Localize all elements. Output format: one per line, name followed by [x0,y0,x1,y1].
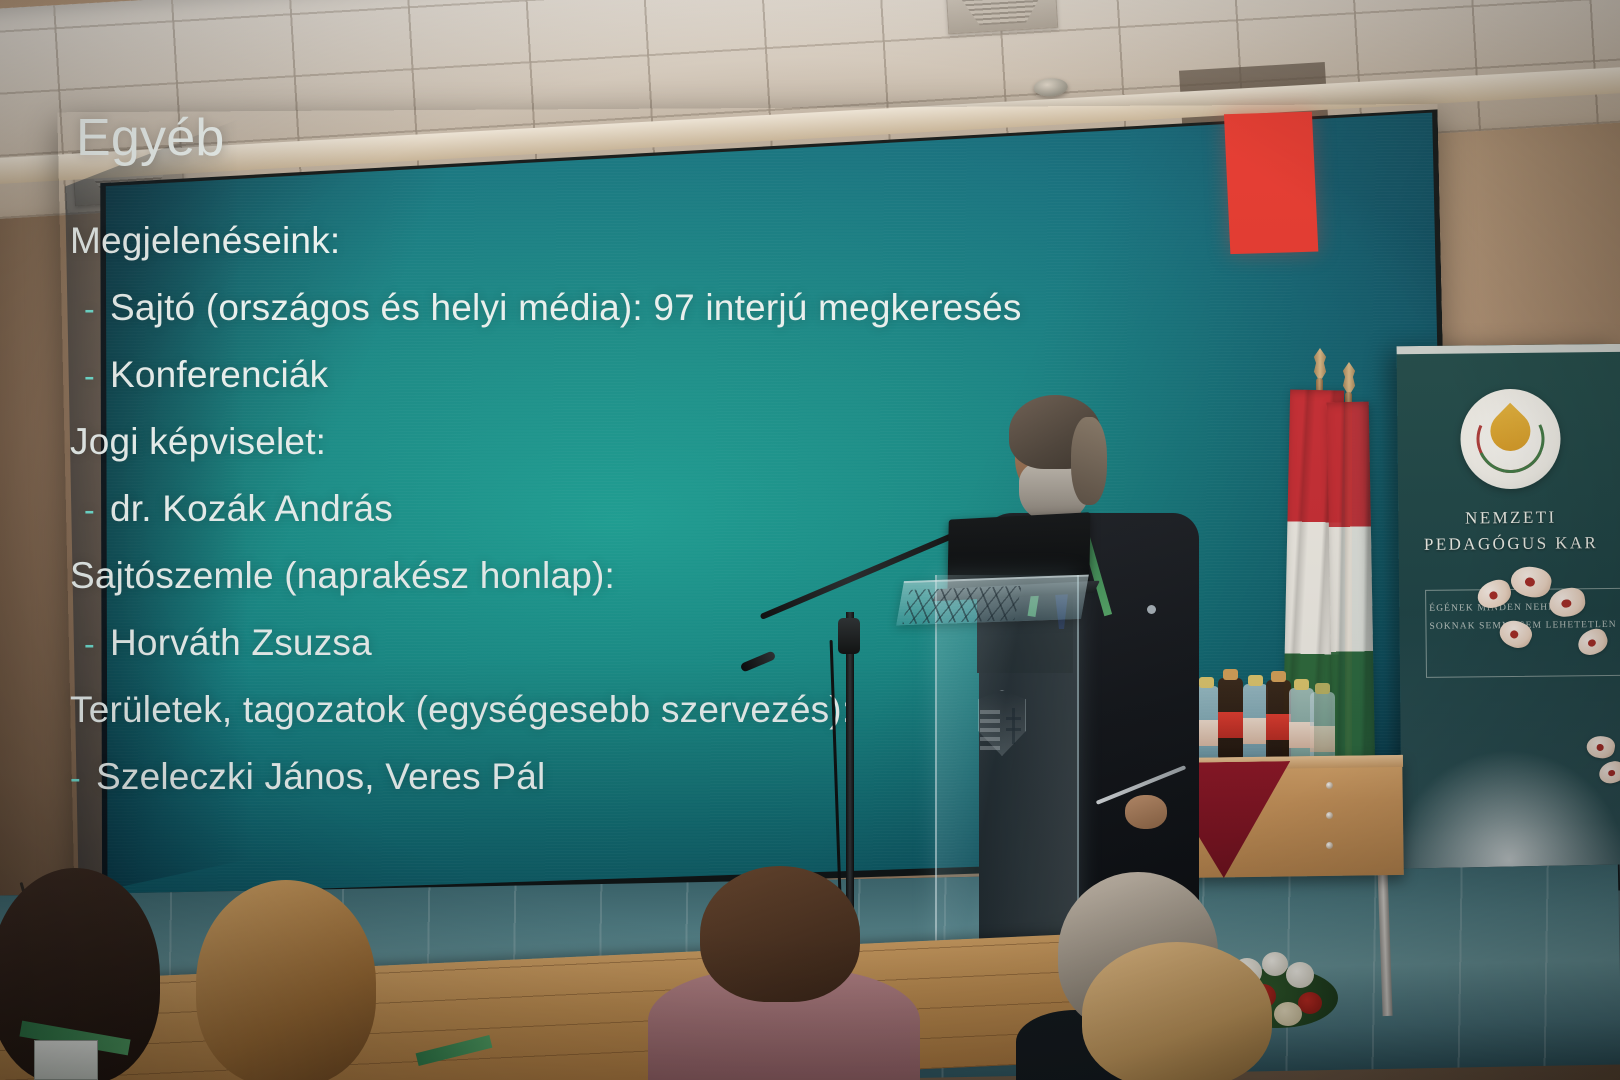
audience-head [196,880,376,1080]
bullet-dash-icon: - [84,293,110,325]
audience-head [700,866,860,1002]
crest-stripes [980,706,1000,750]
slide-line-text: Jogi képviselet: [70,421,326,462]
table-screw [1326,782,1333,789]
bullet-dash-icon: - [84,628,110,660]
slide-line-text: Konferenciák [110,354,328,395]
bottle [1243,684,1268,768]
bullet-dash-icon: - [84,494,110,526]
slide-line-text: Területek, tagozatok (egységesebb szerve… [70,689,852,730]
banner-organization-name: NEMZETI PEDAGÓGUS KAR [1398,504,1620,559]
lapel-pin-icon [1147,605,1156,614]
slide-accent-rectangle [1224,112,1318,255]
conference-photo: Egyéb Megjelenéseink:-Sajtó (országos és… [0,0,1620,1080]
slide-line-text: Sajtó (országos és helyi média): 97 inte… [110,287,1022,328]
bottle [1266,680,1291,764]
table-screw [1326,812,1333,819]
flame-droplet-logo-icon [1459,388,1560,489]
bullet-dash-icon: - [84,360,110,392]
audience-head [1082,942,1272,1080]
slide-line-text: Sajtószemle (naprakész honlap): [70,555,615,596]
microphone-clutch [838,618,860,654]
slide-line-text: Megjelenéseink: [70,220,340,261]
name-badge [34,1040,98,1080]
slide-line-text: Horváth Zsuzsa [110,622,372,663]
table-screw [1326,842,1333,849]
banner-top-rail [1397,344,1620,354]
slide-line: -Sajtó (országos és helyi média): 97 int… [84,289,1200,326]
speaker-hand [1125,795,1167,829]
crest-double-cross-icon [1006,708,1020,744]
banner-quote-line1: ÉGÉNEK MINDEN NEHÉZ, [1429,598,1620,618]
slide-line-text: Szeleczki János, Veres Pál [96,756,545,797]
bottle [1218,678,1243,762]
slide-line: Megjelenéseink: [70,222,1200,259]
banner-org-line1: NEMZETI [1398,504,1620,533]
slide-title: Egyéb [76,112,1200,164]
slide-line-text: dr. Kozák András [110,488,393,529]
speaker-hair-side [1071,417,1107,505]
banner-org-line2: PEDAGÓGUS KAR [1398,530,1620,559]
slide-line: -Konferenciák [84,356,1200,393]
bullet-dash-icon: - [70,762,96,794]
podium-wire-mesh [902,586,1021,624]
